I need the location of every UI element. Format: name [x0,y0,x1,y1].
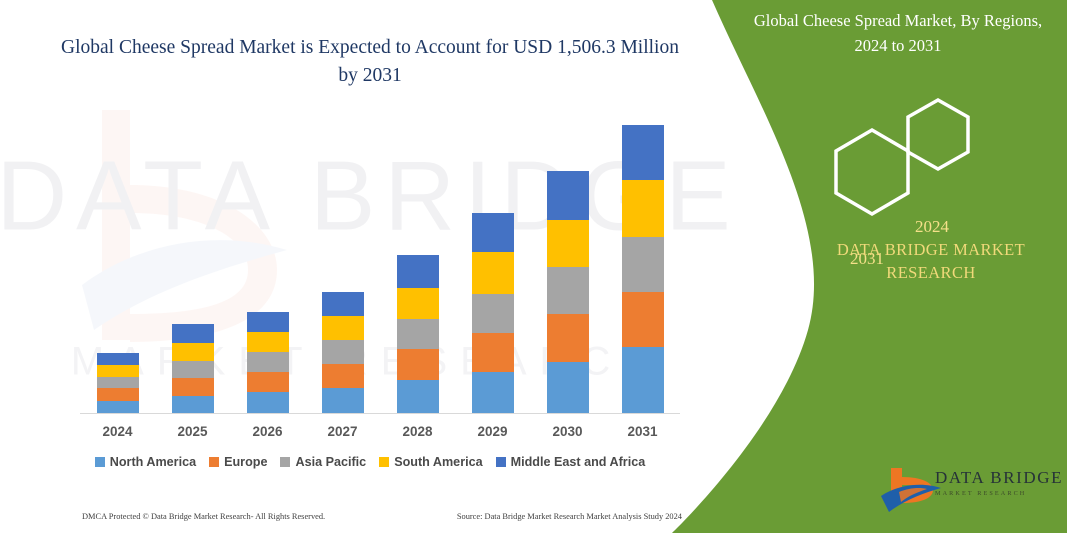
footer: DMCA Protected © Data Bridge Market Rese… [82,508,682,524]
bar-segment [97,365,139,377]
legend-item[interactable]: Asia Pacific [280,455,366,469]
bar-segment [397,255,439,288]
brand-line-1: DATA BRIDGE MARKET [837,240,1025,259]
brand-line-2: RESEARCH [886,263,975,282]
legend-swatch-icon [496,457,506,467]
logo-wordmark: DATA BRIDGE [935,468,1063,488]
bar-segment [322,364,364,388]
hexagon-label-2024: 2024 [915,217,949,237]
infographic-root: DATA BRIDGE MARKET RESEARCH Global Chees… [0,0,1067,533]
hexagon-group: 2024 2031 [810,90,1010,220]
bar-segment [622,237,664,292]
bar-segment [322,292,364,316]
legend-swatch-icon [95,457,105,467]
right-panel-title: Global Cheese Spread Market, By Regions,… [748,8,1048,58]
bar-segment [397,380,439,413]
bar-2028 [397,255,439,413]
bar-segment [247,352,289,372]
footer-copyright: DMCA Protected © Data Bridge Market Rese… [82,512,325,521]
bar-segment [547,171,589,220]
bar-segment [397,288,439,319]
legend-swatch-icon [209,457,219,467]
bar-segment [472,333,514,372]
bar-segment [97,377,139,388]
bar-segment [172,324,214,343]
bar-segment [472,213,514,252]
logo-tagline: MARKET RESEARCH [935,490,1063,497]
bar-segment [322,316,364,340]
bar-2025 [172,324,214,413]
page-title: Global Cheese Spread Market is Expected … [60,34,680,90]
legend-label: North America [110,455,196,469]
bar-segment [472,294,514,333]
bar-segment [97,388,139,401]
x-axis-label-2030: 2030 [538,424,598,439]
bar-segment [547,267,589,314]
legend-label: Europe [224,455,267,469]
bar-2026 [247,312,289,413]
bar-segment [172,378,214,396]
bar-2024 [97,353,139,413]
bar-segment [172,396,214,413]
x-axis-label-2026: 2026 [238,424,298,439]
x-axis-label-2024: 2024 [88,424,148,439]
bar-segment [622,347,664,413]
legend-item[interactable]: Middle East and Africa [496,455,646,469]
bar-segment [97,353,139,365]
legend-swatch-icon [280,457,290,467]
bar-segment [547,220,589,267]
x-axis-label-2031: 2031 [613,424,673,439]
bar-segment [547,362,589,413]
bar-segment [322,388,364,413]
brand-name: DATA BRIDGE MARKET RESEARCH [800,238,1062,284]
bar-segment [397,319,439,349]
footer-source: Source: Data Bridge Market Research Mark… [457,512,682,521]
x-axis-label-2029: 2029 [463,424,523,439]
bar-segment [397,349,439,380]
stacked-bar-chart [80,120,680,416]
legend-item[interactable]: North America [95,455,196,469]
bar-2029 [472,213,514,413]
legend-label: South America [394,455,482,469]
bar-segment [472,252,514,294]
x-axis-labels: 20242025202620272028202920302031 [80,424,680,442]
bar-segment [247,332,289,352]
bar-segment [472,372,514,413]
bar-segment [322,340,364,364]
legend-item[interactable]: South America [379,455,482,469]
bar-segment [547,314,589,362]
bar-2031 [622,125,664,413]
x-axis-label-2028: 2028 [388,424,448,439]
legend-label: Asia Pacific [295,455,366,469]
bar-segment [97,401,139,413]
bar-segment [622,180,664,237]
x-axis-label-2027: 2027 [313,424,373,439]
chart-legend: North AmericaEuropeAsia PacificSouth Ame… [60,455,680,469]
bar-segment [172,343,214,361]
chart-plot-area [80,120,680,413]
bar-segment [172,361,214,378]
legend-label: Middle East and Africa [511,455,646,469]
data-bridge-logo-text: DATA BRIDGE MARKET RESEARCH [935,468,1063,497]
bar-segment [247,372,289,392]
bar-segment [622,292,664,347]
bar-2027 [322,292,364,413]
legend-swatch-icon [379,457,389,467]
x-axis-line [80,413,680,414]
bar-2030 [547,171,589,413]
bar-segment [622,125,664,180]
bar-segment [247,312,289,332]
legend-item[interactable]: Europe [209,455,267,469]
x-axis-label-2025: 2025 [163,424,223,439]
bar-segment [247,392,289,413]
hexagon-shapes-icon [810,90,1010,220]
